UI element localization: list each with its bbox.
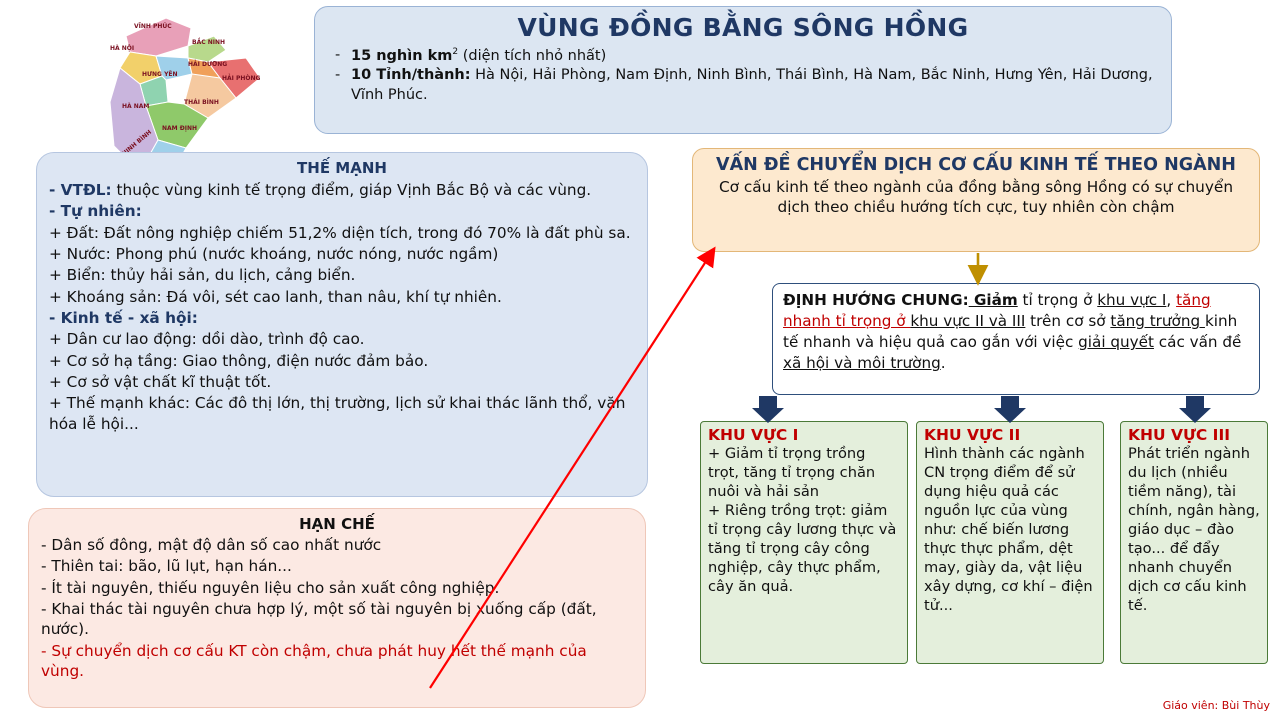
strength-line: + Nước: Phong phú (nước khoáng, nước nón… bbox=[49, 244, 635, 264]
strength-text: + Đất: Đất nông nghiệp chiếm 51,2% diện … bbox=[49, 224, 631, 242]
orientation-t13: . bbox=[941, 354, 946, 372]
strength-line: + Dân cư lao động: dồi dào, trình độ cao… bbox=[49, 329, 635, 349]
orientation-text: ĐỊNH HƯỚNG CHUNG: Giảm tỉ trọng ở khu vự… bbox=[783, 290, 1249, 375]
strength-text: + Dân cư lao động: dồi dào, trình độ cao… bbox=[49, 330, 365, 348]
orientation-t3: khu vực I bbox=[1097, 291, 1166, 309]
strength-line: + Thế mạnh khác: Các đô thị lớn, thị trư… bbox=[49, 393, 635, 434]
strength-lead: - Tự nhiên: bbox=[49, 202, 142, 220]
strength-lead: - VTĐL: bbox=[49, 181, 112, 199]
bullet-dash: - bbox=[329, 46, 351, 66]
orientation-t2: tỉ trọng ở bbox=[1018, 291, 1098, 309]
orientation-t8: tăng trưởng bbox=[1110, 312, 1205, 330]
area-1-body: + Giảm tỉ trọng trồng trọt, tăng tỉ trọn… bbox=[708, 445, 900, 597]
bullet-rest: (diện tích nhỏ nhất) bbox=[458, 48, 606, 64]
area-3-title: KHU VỰC III bbox=[1128, 426, 1260, 444]
problem-panel: VẤN ĐỀ CHUYỂN DỊCH CƠ CẤU KINH TẾ THEO N… bbox=[692, 148, 1260, 252]
arrow-navy-to-area-3 bbox=[1179, 396, 1211, 423]
strength-line: + Cơ sở hạ tầng: Giao thông, điện nước đ… bbox=[49, 351, 635, 371]
strengths-title: THẾ MẠNH bbox=[49, 159, 635, 177]
area-box-3: KHU VỰC III Phát triển ngành du lịch (nh… bbox=[1120, 421, 1268, 664]
strength-text: thuộc vùng kinh tế trọng điểm, giáp Vịnh… bbox=[112, 181, 592, 199]
strength-text: + Khoáng sản: Đá vôi, sét cao lanh, than… bbox=[49, 288, 502, 306]
problem-title: VẤN ĐỀ CHUYỂN DỊCH CƠ CẤU KINH TẾ THEO N… bbox=[705, 155, 1247, 176]
bullet-dash: - bbox=[329, 66, 351, 105]
svg-text:VĨNH PHÚC: VĨNH PHÚC bbox=[134, 23, 172, 30]
limit-line: - Khai thác tài nguyên chưa hợp lý, một … bbox=[41, 599, 633, 640]
bullet-text: 10 Tỉnh/thành: Hà Nội, Hải Phòng, Nam Đị… bbox=[351, 66, 1157, 105]
orientation-t4: , bbox=[1166, 291, 1176, 309]
area-1-title: KHU VỰC I bbox=[708, 426, 900, 444]
svg-text:HẢI DƯƠNG: HẢI DƯƠNG bbox=[188, 60, 227, 68]
bullet-strong: 10 Tỉnh/thành: bbox=[351, 67, 471, 83]
page-title: VÙNG ĐỒNG BẰNG SÔNG HỒNG bbox=[329, 13, 1157, 42]
area-3-body: Phát triển ngành du lịch (nhiều tiềm năn… bbox=[1128, 445, 1260, 616]
strengths-panel: THẾ MẠNH - VTĐL: thuộc vùng kinh tế trọn… bbox=[36, 152, 648, 497]
strength-line: + Đất: Đất nông nghiệp chiếm 51,2% diện … bbox=[49, 223, 635, 243]
strength-text: + Cơ sở vật chất kĩ thuật tốt. bbox=[49, 373, 271, 391]
limit-line-highlight: - Sự chuyển dịch cơ cấu KT còn chậm, chư… bbox=[41, 641, 633, 682]
strength-line: - Tự nhiên: bbox=[49, 201, 635, 221]
area-box-2: KHU VỰC II Hình thành các ngành CN trọng… bbox=[916, 421, 1104, 664]
title-bullet-1: - 15 nghìn km2 (diện tích nhỏ nhất) bbox=[329, 46, 1157, 66]
orientation-t7: trên cơ sở bbox=[1025, 312, 1110, 330]
strength-line: - Kinh tế - xã hội: bbox=[49, 308, 635, 328]
area-2-body: Hình thành các ngành CN trọng điểm để sử… bbox=[924, 445, 1096, 616]
orientation-t1: Giảm bbox=[969, 291, 1018, 309]
orientation-label: ĐỊNH HƯỚNG CHUNG: bbox=[783, 291, 969, 309]
limit-line: - Thiên tai: bão, lũ lụt, hạn hán... bbox=[41, 556, 633, 576]
bullet-rest: Hà Nội, Hải Phòng, Nam Định, Ninh Bình, … bbox=[351, 67, 1153, 103]
strength-line: + Khoáng sản: Đá vôi, sét cao lanh, than… bbox=[49, 287, 635, 307]
arrow-navy-to-area-2 bbox=[994, 396, 1026, 423]
limit-line: - Dân số đông, mật độ dân số cao nhất nư… bbox=[41, 535, 633, 555]
title-bullet-2: - 10 Tỉnh/thành: Hà Nội, Hải Phòng, Nam … bbox=[329, 66, 1157, 105]
bullet-strong: 15 nghìn km bbox=[351, 48, 452, 64]
limitations-panel: HẠN CHẾ - Dân số đông, mật độ dân số cao… bbox=[28, 508, 646, 708]
area-2-title: KHU VỰC II bbox=[924, 426, 1096, 444]
bullet-text: 15 nghìn km2 (diện tích nhỏ nhất) bbox=[351, 46, 1157, 66]
svg-text:HẢI PHÒNG: HẢI PHÒNG bbox=[222, 74, 261, 82]
problem-subtitle: Cơ cấu kinh tế theo ngành của đồng bằng … bbox=[705, 178, 1247, 218]
area-box-1: KHU VỰC I + Giảm tỉ trọng trồng trọt, tă… bbox=[700, 421, 908, 664]
strength-line: + Cơ sở vật chất kĩ thuật tốt. bbox=[49, 372, 635, 392]
svg-text:NAM ĐỊNH: NAM ĐỊNH bbox=[162, 125, 197, 132]
strength-line: + Biển: thủy hải sản, du lịch, cảng biển… bbox=[49, 265, 635, 285]
svg-text:THÁI BÌNH: THÁI BÌNH bbox=[184, 98, 219, 106]
svg-text:HÀ NỘI: HÀ NỘI bbox=[110, 45, 134, 52]
strength-line: - VTĐL: thuộc vùng kinh tế trọng điểm, g… bbox=[49, 180, 635, 200]
strength-lead: - Kinh tế - xã hội: bbox=[49, 309, 198, 327]
orientation-t6: khu vực II và III bbox=[910, 312, 1025, 330]
strength-text: + Biển: thủy hải sản, du lịch, cảng biển… bbox=[49, 266, 355, 284]
strength-text: + Thế mạnh khác: Các đô thị lớn, thị trư… bbox=[49, 394, 625, 432]
author-credit: Giáo viên: Bùi Thùy bbox=[1163, 699, 1270, 712]
limit-line: - Ít tài nguyên, thiếu nguyên liệu cho s… bbox=[41, 578, 633, 598]
limitations-title: HẠN CHẾ bbox=[41, 515, 633, 533]
strength-text: + Nước: Phong phú (nước khoáng, nước nón… bbox=[49, 245, 498, 263]
svg-text:BẮC NINH: BẮC NINH bbox=[192, 38, 225, 46]
orientation-t10: giải quyết bbox=[1078, 333, 1154, 351]
orientation-t12: xã hội và môi trường bbox=[783, 354, 941, 372]
svg-text:HÀ NAM: HÀ NAM bbox=[122, 103, 149, 110]
orientation-t11: các vấn đề bbox=[1154, 333, 1241, 351]
strength-text: + Cơ sở hạ tầng: Giao thông, điện nước đ… bbox=[49, 352, 428, 370]
title-panel: VÙNG ĐỒNG BẰNG SÔNG HỒNG - 15 nghìn km2 … bbox=[314, 6, 1172, 134]
arrow-navy-to-area-1 bbox=[752, 396, 784, 423]
orientation-panel: ĐỊNH HƯỚNG CHUNG: Giảm tỉ trọng ở khu vự… bbox=[772, 283, 1260, 395]
svg-text:HƯNG YÊN: HƯNG YÊN bbox=[142, 70, 178, 78]
